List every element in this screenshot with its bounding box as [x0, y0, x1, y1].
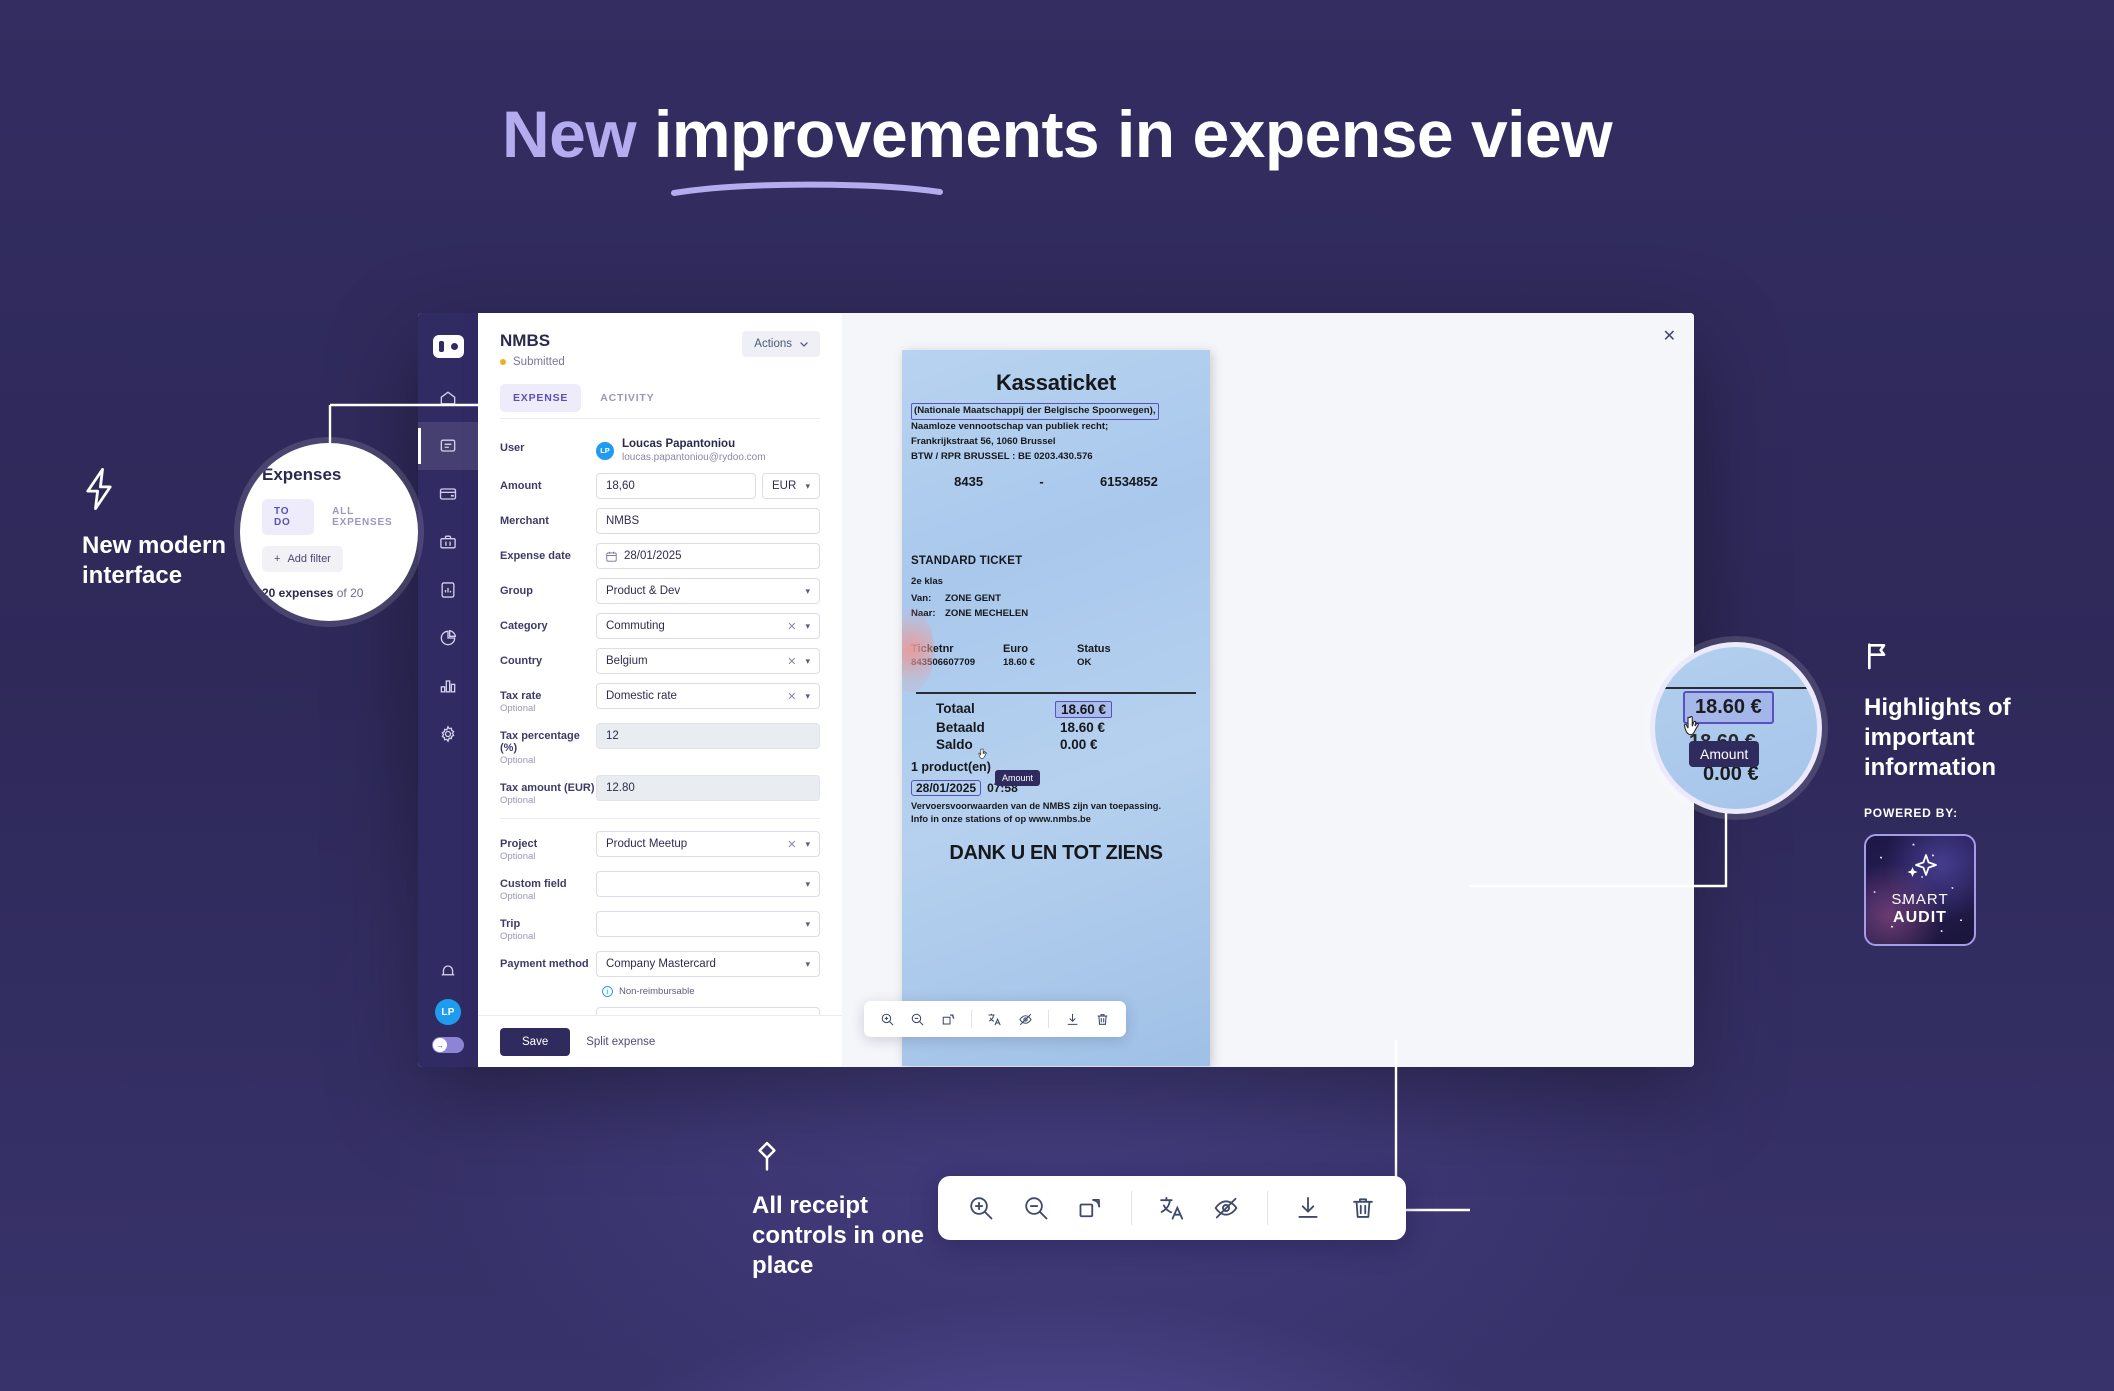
smart-audit-badge: SMART AUDIT — [1864, 834, 1976, 946]
smart-audit-line1: SMART — [1891, 892, 1948, 909]
callout-zoom-out-icon[interactable] — [1022, 1194, 1050, 1222]
smart-audit-label: SMART AUDIT — [1891, 892, 1948, 927]
callout-highlights: Highlights of important information POWE… — [1864, 640, 2084, 946]
callout-receipt-controls: All receipt controls in one place — [752, 1140, 942, 1282]
callout-hide-highlights-icon[interactable] — [1212, 1194, 1240, 1222]
lightning-icon — [82, 468, 116, 510]
callout-right-text: Highlights of important information — [1864, 693, 2084, 784]
callout-zoom-in-icon[interactable] — [967, 1194, 995, 1222]
magnifier-cursor-hand-icon — [1683, 715, 1703, 741]
powered-by-label: POWERED BY: — [1864, 806, 2084, 820]
callout-download-icon[interactable] — [1294, 1194, 1322, 1222]
magnifier-rule — [1651, 687, 1811, 689]
magnifier-count-bold: 20 expenses — [262, 586, 333, 600]
sparkle-icon — [1900, 852, 1940, 886]
magnifier-tooltip: Amount — [1689, 741, 1759, 767]
callout-toolbar — [938, 1176, 1406, 1240]
magnifier-count: 20 expenses of 20 — [262, 586, 412, 600]
callout-rotate-icon[interactable] — [1076, 1194, 1104, 1222]
callout-bottom-text: All receipt controls in one place — [752, 1191, 942, 1282]
callout-toolbar-divider — [1267, 1191, 1268, 1225]
flag-icon — [1864, 640, 1896, 672]
magnifier-tab-all-expenses: ALL EXPENSES — [320, 499, 412, 535]
pin-icon — [752, 1140, 782, 1172]
magnifier-add-filter-label: Add filter — [287, 553, 330, 565]
plus-icon: + — [274, 553, 280, 565]
magnifier-add-filter: + Add filter — [262, 546, 343, 572]
magnifier-tab-to-do: TO DO — [262, 499, 314, 535]
magnifier-expenses-title: Expenses — [262, 465, 412, 485]
smart-audit-line2: AUDIT — [1891, 909, 1948, 927]
callout-toolbar-divider — [1131, 1191, 1132, 1225]
callout-translate-icon[interactable] — [1158, 1194, 1186, 1222]
magnifier-count-rest: of 20 — [333, 586, 363, 600]
magnifier-expenses-header: Expenses TO DO ALL EXPENSES + Add filter… — [240, 443, 418, 621]
magnifier-amount-highlight: 18.60 € 18.60 € 0.00 € Amount — [1650, 642, 1822, 814]
callout-delete-icon[interactable] — [1349, 1194, 1377, 1222]
